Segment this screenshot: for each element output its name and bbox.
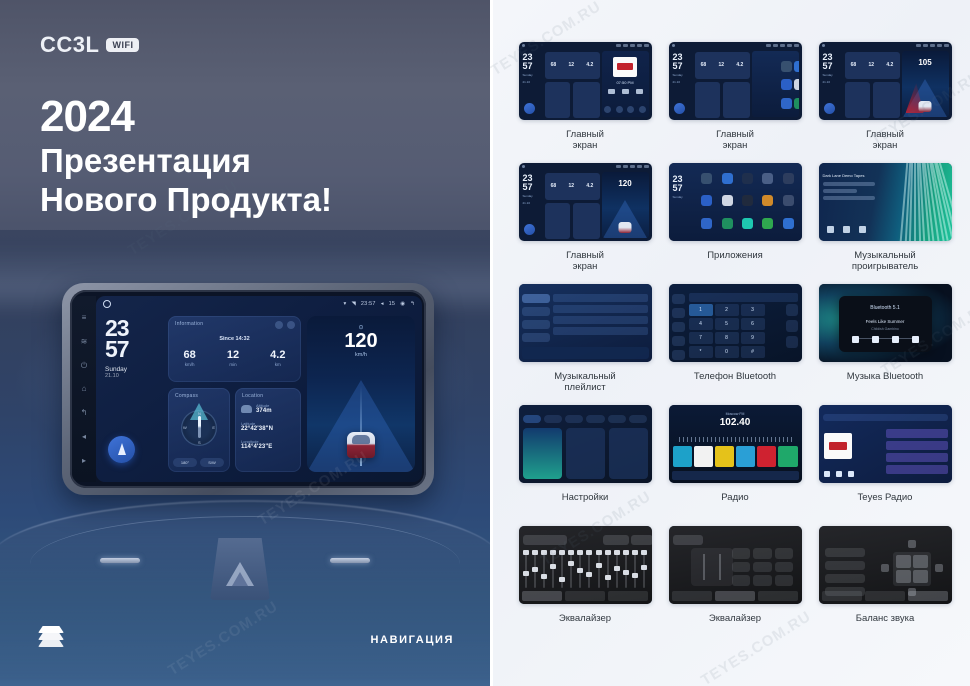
information-since-label: Since 14:32	[168, 336, 301, 342]
settings-screen-thumbnail[interactable]	[519, 405, 652, 483]
pause-icon[interactable]	[622, 89, 629, 94]
effect-tile[interactable]	[775, 575, 794, 586]
mini-location-card[interactable]	[873, 82, 900, 118]
eq-slider-handle[interactable]	[623, 570, 629, 575]
pause-icon[interactable]	[843, 226, 850, 233]
head-unit-screen[interactable]: ▾ ◥ 23:57 ◂ 15 ◉ ↰ 23 57 Sunday 21.10 In…	[96, 296, 422, 482]
next-icon[interactable]	[848, 471, 854, 477]
tab-wifi[interactable]	[523, 415, 541, 423]
thumbnail-caption: Эквалайзер	[515, 613, 655, 647]
tab-eq[interactable]	[522, 591, 562, 601]
playlist-sidebar	[522, 294, 550, 346]
navigation-fab-icon[interactable]	[108, 436, 135, 463]
number-input[interactable]	[689, 293, 798, 302]
grid-cell: Эквалайзер	[515, 526, 655, 647]
app-drawer-thumbnail[interactable]: 2357Sunday	[669, 163, 802, 241]
compass-needle-icon	[198, 416, 201, 438]
thumbnail-caption: Музыка Bluetooth	[815, 371, 955, 405]
dialpad-screen[interactable]: 123456789*0#	[669, 284, 802, 362]
title-line-1: Презентация	[40, 141, 332, 180]
eq-tabs	[522, 591, 649, 601]
eq-tabs	[822, 591, 949, 601]
camera-icon[interactable]: ◉	[400, 301, 405, 307]
app-icon[interactable]	[762, 195, 773, 206]
album-art	[824, 433, 852, 459]
dial-key[interactable]: 6	[741, 318, 765, 330]
mini-clock-day: Sunday	[823, 73, 845, 77]
mini-app-panel[interactable]	[752, 51, 799, 117]
next-icon[interactable]	[859, 226, 866, 233]
station-row[interactable]	[886, 453, 948, 462]
mini-information-card[interactable]: 68124.2	[545, 173, 600, 200]
bluetooth-phone-dialpad-thumbnail[interactable]: 123456789*0#	[669, 284, 802, 362]
prev-icon[interactable]	[824, 471, 830, 477]
effect-tile[interactable]	[732, 548, 751, 559]
track-row[interactable]	[553, 327, 648, 335]
thumbnail-caption: Главныйэкран	[815, 129, 955, 163]
teyes-radio-screen-thumbnail[interactable]	[819, 405, 952, 483]
mini-road-widget[interactable]: 105	[902, 51, 949, 117]
mini-clock-minutes: 57	[673, 62, 695, 71]
eq-slider-handle[interactable]	[532, 567, 538, 572]
location-latitude-row: Latitude 22°42'38"N	[241, 421, 295, 432]
play-pause-icon[interactable]	[872, 336, 879, 343]
arrow-right-icon[interactable]	[935, 564, 943, 572]
media-controls	[602, 89, 649, 94]
thumbnail-caption: Настройки	[515, 492, 655, 526]
mini-compass-card[interactable]	[545, 82, 570, 118]
teyes-radio-screen[interactable]	[819, 405, 952, 483]
teyes-nav-bar[interactable]	[823, 414, 948, 421]
tab-balance[interactable]	[908, 591, 948, 601]
tab-sound[interactable]	[544, 415, 562, 423]
mini-clock-day: Sunday	[523, 194, 545, 198]
mini-information-card[interactable]: 68124.2	[845, 52, 900, 79]
preset-tile[interactable]	[694, 446, 713, 467]
app-icon[interactable]	[742, 173, 753, 184]
dial-key[interactable]: 2	[715, 304, 739, 316]
location-altitude-row: Altitude 374m	[241, 403, 295, 414]
home-screen-road-thumbnail[interactable]: 2357Sunday21.1068124.2105	[819, 42, 952, 120]
sidebar-item[interactable]	[522, 333, 550, 342]
mini-location-card[interactable]	[573, 82, 600, 118]
sidebar-item[interactable]	[672, 308, 685, 318]
prev-icon[interactable]	[608, 89, 615, 94]
grid-cell: Эквалайзер	[665, 526, 805, 647]
playlist-screen[interactable]	[519, 284, 652, 362]
title-line-2: Нового Продукта!	[40, 180, 332, 219]
rail-button-volume-down[interactable]: ◂	[80, 432, 89, 441]
rail-button-eq[interactable]: ≋	[80, 337, 89, 346]
eq-slider-handle[interactable]	[577, 568, 583, 573]
tab-eq[interactable]	[672, 591, 712, 601]
tab-fader[interactable]	[715, 591, 755, 601]
station-row[interactable]	[886, 429, 948, 438]
sidebar-item[interactable]	[672, 294, 685, 304]
mini-navigation-fab-icon[interactable]	[524, 103, 535, 114]
media-shortcut[interactable]	[627, 106, 634, 113]
dial-key[interactable]: 9	[741, 332, 765, 344]
metric-duration: 12 min	[227, 349, 239, 367]
mini-location-card[interactable]	[723, 82, 750, 118]
compass-point-w: W	[183, 425, 187, 430]
car-3d-model	[919, 101, 932, 112]
bt-controls	[839, 336, 932, 343]
preset-row[interactable]	[825, 548, 865, 557]
equalizer-screen[interactable]	[519, 526, 652, 604]
home-icon[interactable]	[103, 300, 111, 308]
dial-key[interactable]: #	[741, 346, 765, 358]
eq-slider-handle[interactable]	[614, 566, 620, 571]
speaker-rr[interactable]	[913, 570, 928, 583]
rail-button-home[interactable]: ⌂	[80, 384, 89, 393]
mini-clock-minutes: 57	[523, 183, 545, 192]
tab-apps[interactable]	[608, 415, 626, 423]
music-player-thumbnail[interactable]: Dark Lane Demo Tapes	[819, 163, 952, 241]
eq-slider-handle[interactable]	[523, 571, 529, 576]
station-name: Moscow FM	[669, 412, 802, 416]
speaker-grid	[893, 552, 931, 586]
metric-value: 4.2	[270, 349, 285, 361]
home-screen-media-thumbnail[interactable]: 2357Sunday21.1068124.207:50 PM	[519, 42, 652, 120]
media-shortcut[interactable]	[604, 106, 611, 113]
eq-tabs	[672, 591, 799, 601]
eq-presets	[523, 535, 648, 545]
mini-information-card[interactable]: 68124.2	[545, 52, 600, 79]
mini-metric: 4.2	[736, 62, 743, 68]
metric-unit: min	[227, 362, 239, 367]
preset-row[interactable]	[825, 561, 865, 570]
compass-point-e: E	[212, 425, 215, 430]
grid-cell: Dark Lane Demo TapesМузыкальныйпроигрыва…	[815, 163, 955, 284]
app-icon[interactable]	[701, 218, 712, 229]
preset-button[interactable]	[631, 535, 652, 545]
thumbnail-caption: Приложения	[665, 250, 805, 284]
clock-minutes: 57	[105, 339, 161, 360]
mini-metric: 12	[569, 183, 575, 189]
prev-icon[interactable]	[852, 336, 859, 343]
stop-icon[interactable]	[892, 336, 899, 343]
mini-clock-minutes: 57	[523, 62, 545, 71]
preset-tile[interactable]	[673, 446, 692, 467]
speaker-fl[interactable]	[896, 555, 911, 568]
grid-cell: Настройки	[515, 405, 655, 526]
effect-tile[interactable]	[753, 575, 772, 586]
eq-slider-handle[interactable]	[550, 564, 556, 569]
eq-slider-handle[interactable]	[596, 563, 602, 568]
equalizer-screen-2[interactable]	[669, 526, 802, 604]
layers-icon	[38, 626, 66, 648]
information-card-buttons[interactable]	[275, 321, 295, 329]
app-icon[interactable]	[781, 98, 792, 109]
dial-key[interactable]: *	[689, 346, 713, 358]
metric-unit: km/h	[184, 362, 196, 367]
hazard-triangle-inner-icon	[232, 572, 248, 586]
favorite-icon[interactable]	[786, 304, 798, 316]
grid-cell: 2357Sunday21.1068124.2Главныйэкран	[665, 42, 805, 163]
eq-slider-handle[interactable]	[641, 565, 647, 570]
location-card-title: Location	[241, 388, 295, 399]
app-icon[interactable]	[701, 195, 712, 206]
location-card[interactable]: Location Altitude 374m Latitude 22°42'38…	[235, 388, 301, 472]
compass-point-s: S	[198, 440, 201, 445]
mini-location-card[interactable]	[573, 203, 600, 239]
dial-key[interactable]: 8	[715, 332, 739, 344]
wifi-tile[interactable]	[523, 428, 562, 479]
preset-button[interactable]	[603, 535, 629, 545]
mini-speed-value: 105	[902, 58, 949, 67]
rail-button-back[interactable]: ↰	[80, 408, 89, 417]
music-playlist-thumbnail[interactable]	[519, 284, 652, 362]
sidebar-item[interactable]	[522, 320, 550, 329]
dial-key[interactable]: 1	[689, 304, 713, 316]
tab-display[interactable]	[565, 415, 583, 423]
dial-key[interactable]: 0	[715, 346, 739, 358]
mini-navigation-fab-icon[interactable]	[824, 103, 835, 114]
track-row[interactable]	[553, 294, 648, 302]
compass-card[interactable]: Compass N E S W 180° S/W	[168, 388, 230, 472]
preset-tile[interactable]	[778, 446, 797, 467]
effect-tile[interactable]	[753, 548, 772, 559]
settings-tiles	[523, 428, 648, 479]
refresh-icon[interactable]	[275, 321, 283, 329]
app-icon[interactable]	[781, 79, 792, 90]
tab-eq[interactable]	[822, 591, 862, 601]
settings-screen[interactable]	[519, 405, 652, 483]
app-drawer-screen[interactable]: 2357Sunday	[669, 163, 802, 241]
eq-header	[673, 535, 798, 545]
rail-button-menu[interactable]: ≡	[80, 313, 89, 322]
tab-about[interactable]	[629, 415, 647, 423]
tab-balance[interactable]	[758, 591, 798, 601]
preset-label	[673, 535, 703, 545]
app-icon[interactable]	[783, 173, 794, 184]
album-art	[613, 57, 637, 77]
mini-clock-minutes: 57	[823, 62, 845, 71]
mini-media-widget[interactable]: 07:50 PM	[602, 51, 649, 117]
eq-slider-handle[interactable]	[559, 577, 565, 582]
speed-unit: km/h	[307, 352, 415, 358]
mini-status-bar	[669, 42, 802, 49]
brand-name: CC3L	[40, 32, 99, 58]
app-icon[interactable]	[722, 195, 733, 206]
mini-road-widget[interactable]: 120	[602, 172, 649, 238]
mini-compass-card[interactable]	[695, 82, 720, 118]
app-icon[interactable]	[794, 61, 799, 72]
head-unit-side-rail[interactable]: ≡ ≋ ⏻ ⌂ ↰ ◂ ▸	[72, 296, 96, 482]
effect-tile[interactable]	[753, 562, 772, 573]
settings-tabs	[523, 415, 648, 423]
dial-key[interactable]: 3	[741, 304, 765, 316]
visualizer-waves	[900, 163, 952, 241]
station-row[interactable]	[886, 465, 948, 474]
app-icon[interactable]	[783, 218, 794, 229]
app-icon[interactable]	[781, 61, 792, 72]
track-row[interactable]	[553, 316, 648, 324]
more-tile[interactable]	[609, 428, 648, 479]
mini-navigation-fab-icon[interactable]	[524, 224, 535, 235]
home-screen-apps-thumbnail[interactable]: 2357Sunday21.1068124.2	[669, 42, 802, 120]
app-icon[interactable]	[762, 173, 773, 184]
app-icon[interactable]	[794, 79, 799, 90]
app-icon[interactable]	[742, 195, 753, 206]
track-info: Dark Lane Demo Tapes	[823, 173, 883, 203]
page-title: 2024 Презентация Нового Продукта!	[40, 92, 332, 219]
stop-icon[interactable]	[836, 471, 842, 477]
preset-label[interactable]	[523, 535, 567, 545]
preset-row[interactable]	[825, 574, 865, 583]
bluetooth-music-thumbnail[interactable]: Bluetooth 5.1Feels Like SummerChildish G…	[819, 284, 952, 362]
equalizer-screen-thumbnail[interactable]	[519, 526, 652, 604]
app-icon[interactable]	[783, 195, 794, 206]
backspace-icon[interactable]	[786, 320, 798, 332]
tab-system[interactable]	[586, 415, 604, 423]
app-icon[interactable]	[742, 218, 753, 229]
call-icon[interactable]	[786, 336, 798, 348]
tab-fader[interactable]	[565, 591, 605, 601]
preset-tile[interactable]	[757, 446, 776, 467]
eq-slider-handle[interactable]	[605, 575, 611, 580]
dial-key[interactable]: 7	[689, 332, 713, 344]
frequency-scale[interactable]	[679, 437, 792, 442]
thumbnail-caption: Баланс звука	[815, 613, 955, 647]
tab-fader[interactable]	[865, 591, 905, 601]
metric-speed: 68 km/h	[184, 349, 196, 367]
clock-widget: 23 57 Sunday 21.10	[105, 318, 161, 379]
station-row[interactable]	[886, 441, 948, 450]
eq-slider-handle[interactable]	[541, 574, 547, 579]
thumbnail-caption: Teyes Радио	[815, 492, 955, 526]
dial-key[interactable]: 5	[715, 318, 739, 330]
station-list	[886, 429, 948, 477]
thumbnail-caption: Главныйэкран	[665, 129, 805, 163]
location-longitude-row: Longitude 114°4'23"E	[241, 439, 295, 450]
speed-value: 120	[307, 331, 415, 352]
carplay-tile[interactable]	[566, 428, 605, 479]
app-grid	[698, 173, 798, 237]
prev-icon[interactable]	[827, 226, 834, 233]
sound-balance-screen-thumbnail[interactable]	[819, 526, 952, 604]
effect-tile[interactable]	[732, 562, 751, 573]
presentation-root: TEYES.COM.RU TEYES.COM.RU TEYES.COM.RU C…	[0, 0, 970, 686]
next-icon[interactable]	[636, 89, 643, 94]
grid-cell: Bluetooth 5.1Feels Like SummerChildish G…	[815, 284, 955, 405]
effect-tile[interactable]	[775, 562, 794, 573]
thumbnail-caption: Главныйэкран	[515, 250, 655, 284]
mini-metric: 68	[701, 62, 707, 68]
mini-compass-card[interactable]	[545, 203, 570, 239]
mini-compass-card[interactable]	[845, 82, 870, 118]
grid-cell: 2357SundayПриложения	[665, 163, 805, 284]
speaker-fr[interactable]	[913, 555, 928, 568]
thumbnail-caption: Радио	[665, 492, 805, 526]
mini-metric: 12	[719, 62, 725, 68]
mini-status-bar	[819, 42, 952, 49]
media-shortcut[interactable]	[616, 106, 623, 113]
app-icon[interactable]	[762, 218, 773, 229]
effect-tile[interactable]	[732, 575, 751, 586]
road-speed-panel[interactable]: ⊙ 120 km/h	[307, 316, 415, 472]
equalizer-screen-2-thumbnail[interactable]	[669, 526, 802, 604]
expand-icon[interactable]	[287, 321, 295, 329]
back-icon[interactable]: ↰	[410, 301, 415, 307]
mini-metric: 4.2	[586, 183, 593, 189]
track-time: 07:50 PM	[602, 80, 649, 85]
rail-button-volume-up[interactable]: ▸	[80, 456, 89, 465]
effect-tile[interactable]	[775, 548, 794, 559]
sidebar-item[interactable]	[522, 307, 550, 316]
radio-toolbar[interactable]	[672, 471, 799, 480]
screenshot-grid-panel: TEYES.COM.RU TEYES.COM.RU TEYES.COM.RU T…	[490, 0, 970, 686]
sound-balance-screen[interactable]	[819, 526, 952, 604]
mini-navigation-fab-icon[interactable]	[674, 103, 685, 114]
mini-information-card[interactable]: 68124.2	[695, 52, 750, 79]
app-icon[interactable]	[722, 218, 733, 229]
eq-slider-handle[interactable]	[586, 572, 592, 577]
eq-slider-handle[interactable]	[632, 573, 638, 578]
dashboard-vent-left	[100, 558, 140, 563]
arrow-left-icon[interactable]	[881, 564, 889, 572]
mini-status-bar	[519, 42, 652, 49]
brand-logo: CC3L WIFI	[40, 32, 139, 58]
radio-screen[interactable]: Moscow FM102.40	[669, 405, 802, 483]
media-shortcut[interactable]	[639, 106, 646, 113]
mini-metric: 4.2	[586, 62, 593, 68]
metric-distance: 4.2 km	[270, 349, 285, 367]
tab-balance[interactable]	[608, 591, 648, 601]
rail-button-power[interactable]: ⏻	[80, 361, 89, 370]
mini-widgets: 68124.2	[545, 170, 600, 241]
music-player-screen[interactable]: Dark Lane Demo Tapes	[819, 163, 952, 241]
bt-track-artist: Childish Gambino	[839, 327, 932, 331]
information-card[interactable]: Information Since 14:32 68 km/h 12 min	[168, 316, 301, 382]
radio-screen-thumbnail[interactable]: Moscow FM102.40	[669, 405, 802, 483]
eq-band-sliders	[525, 550, 646, 588]
information-metrics: 68 km/h 12 min 4.2 km	[168, 349, 301, 367]
app-icon[interactable]	[701, 173, 712, 184]
mini-widgets: 68124.2	[545, 49, 600, 120]
home-screen-road-2-thumbnail[interactable]: 2357Sunday21.1068124.2120	[519, 163, 652, 241]
mini-clock-day: Sunday	[673, 73, 695, 77]
app-icon[interactable]	[722, 173, 733, 184]
altitude-value: 374m	[256, 408, 272, 414]
player-controls	[827, 226, 866, 233]
now-playing-bar[interactable]	[522, 347, 649, 359]
preset-tile[interactable]	[736, 446, 755, 467]
next-icon[interactable]	[912, 336, 919, 343]
eq-slider-handle[interactable]	[568, 561, 574, 566]
track-row[interactable]	[553, 305, 648, 313]
mini-metric: 4.2	[886, 62, 893, 68]
arrow-up-icon[interactable]	[908, 540, 916, 548]
status-bar: ▾ ◥ 23:57 ◂ 15 ◉ ↰	[96, 296, 422, 312]
player-controls	[824, 471, 854, 477]
sidebar-item[interactable]	[672, 322, 685, 332]
dial-key[interactable]: 4	[689, 318, 713, 330]
bluetooth-music-screen[interactable]: Bluetooth 5.1Feels Like SummerChildish G…	[819, 284, 952, 362]
sidebar-item[interactable]	[672, 336, 685, 346]
track-title: Dark Lane Demo Tapes	[823, 173, 883, 178]
sidebar-item[interactable]	[672, 350, 685, 360]
sidebar-item[interactable]	[522, 294, 550, 303]
track-list	[553, 294, 648, 346]
speaker-rl[interactable]	[896, 570, 911, 583]
compass-rose-icon: N E S W	[181, 410, 217, 446]
mini-widgets: 68124.2	[695, 49, 750, 120]
preset-tile[interactable]	[715, 446, 734, 467]
grid-cell: Teyes Радио	[815, 405, 955, 526]
app-icon[interactable]	[794, 98, 799, 109]
